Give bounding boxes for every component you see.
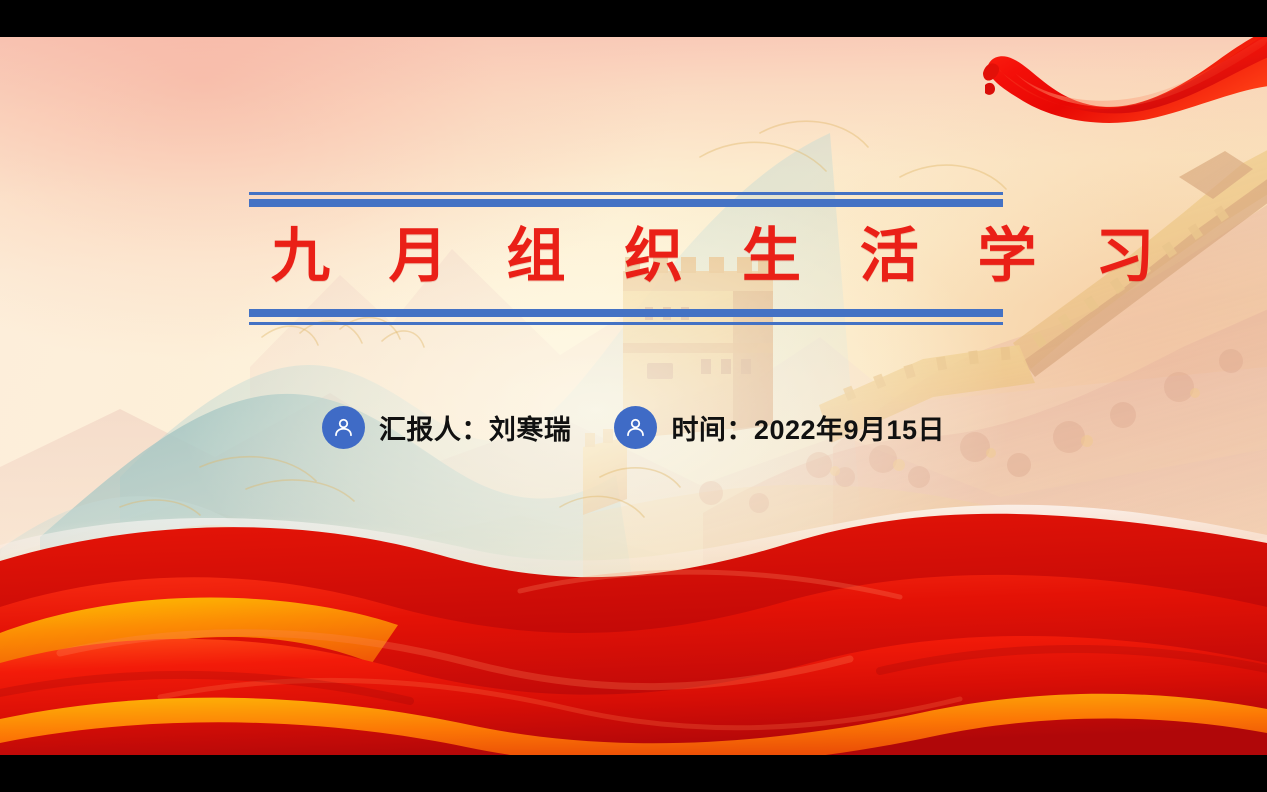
person-icon bbox=[322, 406, 365, 449]
title-rule-bottom bbox=[249, 309, 1003, 325]
red-silk-waves-decoration bbox=[0, 457, 1267, 755]
meta-row: 汇报人：刘寒瑞 时间：2022年9月15日 bbox=[0, 406, 1267, 449]
title-rule-bottom-thin bbox=[249, 322, 1003, 325]
title-rule-top-thick bbox=[249, 199, 1003, 207]
letterbox-bar-bottom bbox=[0, 755, 1267, 792]
title-block: 九 月 组 织 生 活 学 习 bbox=[249, 192, 1003, 325]
slide-frame: 九 月 组 织 生 活 学 习 汇报人：刘寒瑞 bbox=[0, 0, 1267, 792]
presenter-item: 汇报人：刘寒瑞 bbox=[322, 406, 572, 449]
date-item: 时间：2022年9月15日 bbox=[614, 406, 945, 449]
page-title: 九 月 组 织 生 活 学 习 bbox=[249, 207, 1003, 309]
title-rule-bottom-thick bbox=[249, 309, 1003, 317]
presenter-label: 汇报人：刘寒瑞 bbox=[379, 408, 572, 447]
slide-canvas: 九 月 组 织 生 活 学 习 汇报人：刘寒瑞 bbox=[0, 37, 1267, 755]
red-ribbon-decoration bbox=[979, 37, 1267, 143]
title-rule-top bbox=[249, 192, 1003, 207]
date-label: 时间：2022年9月15日 bbox=[671, 408, 945, 447]
person-icon bbox=[614, 406, 657, 449]
letterbox-bar-top bbox=[0, 0, 1267, 37]
